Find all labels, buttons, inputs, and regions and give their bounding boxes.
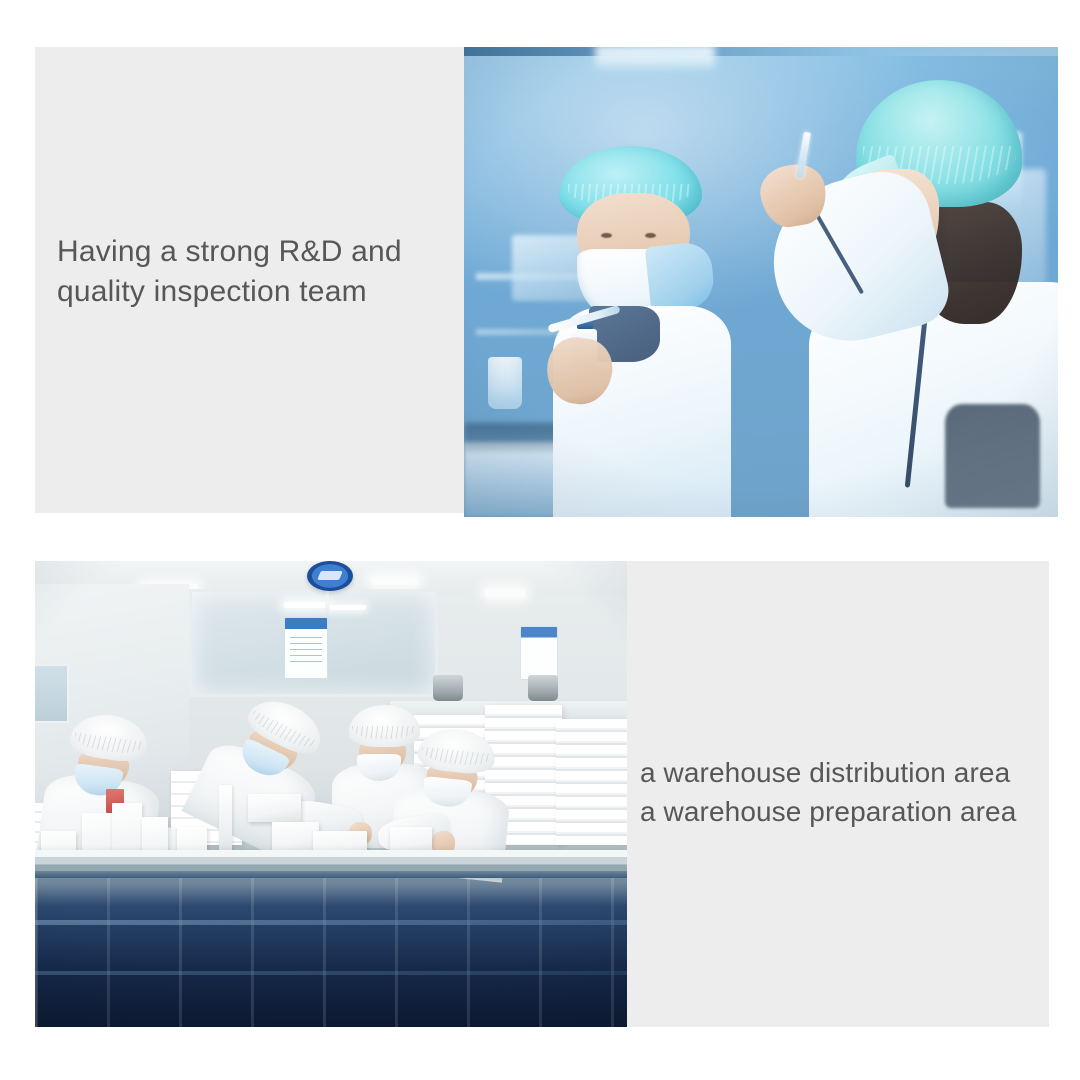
page-root: Having a strong R&D and quality inspecti…: [0, 0, 1080, 1080]
warehouse-caption-text: a warehouse distribution area a warehous…: [640, 753, 1045, 831]
warehouse-photo-vignette: [35, 561, 627, 1027]
lab-photo-vignette: [464, 47, 1058, 517]
lab-technicians-photo: [464, 47, 1058, 517]
rnd-caption-panel: Having a strong R&D and quality inspecti…: [35, 47, 465, 513]
lab-scene-background: [464, 47, 1058, 517]
warehouse-packing-photo: [35, 561, 627, 1027]
rnd-caption-text: Having a strong R&D and quality inspecti…: [57, 232, 453, 311]
warehouse-scene-background: [35, 561, 627, 1027]
warehouse-caption-panel: a warehouse distribution area a warehous…: [627, 561, 1049, 1027]
